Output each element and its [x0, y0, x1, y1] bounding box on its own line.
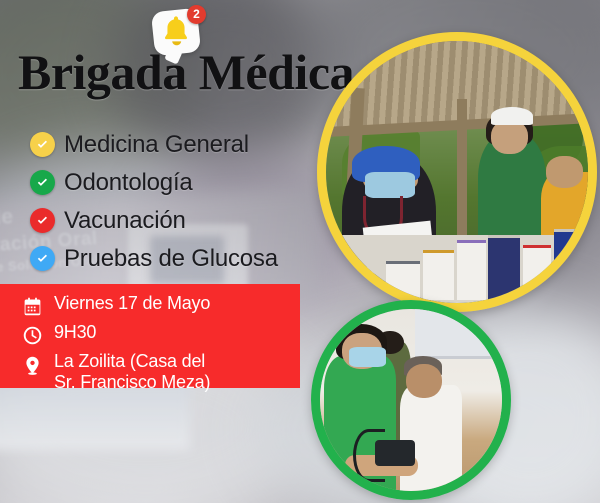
clock-icon [19, 322, 45, 348]
list-item: Odontología [30, 165, 278, 200]
event-info-panel: Viernes 17 de Mayo 9H30 La Zoilita (Casa… [0, 284, 300, 388]
list-item: Vacunación [30, 203, 278, 238]
event-location-text: La Zoilita (Casa del Sr. Francisco Meza) [54, 351, 210, 393]
medicine-box [488, 235, 519, 301]
clinic-shelf [415, 309, 502, 359]
medicine-box [386, 261, 420, 301]
event-date-row: Viernes 17 de Mayo [0, 293, 300, 319]
medicine-box [554, 229, 585, 300]
notification-badge: 2 [187, 5, 206, 24]
photo-content [326, 41, 588, 303]
event-location-line2: Sr. Francisco Meza) [54, 372, 210, 392]
event-date-text: Viernes 17 de Mayo [54, 293, 210, 314]
face-mask [349, 347, 385, 367]
event-location-line1: La Zoilita (Casa del [54, 351, 205, 371]
calendar-icon [19, 293, 45, 319]
list-item-label: Odontología [64, 169, 193, 197]
medical-brigade-photo [317, 32, 597, 312]
check-circle-icon [30, 132, 55, 157]
medicine-box [423, 250, 454, 300]
brigada-medica-poster: de atación Oral e Solución Oral 2 Brigad… [0, 0, 600, 503]
list-item: Pruebas de Glucosa [30, 241, 278, 276]
face-mask [365, 172, 415, 198]
medicine-box [523, 245, 552, 300]
event-time-text: 9H30 [54, 322, 96, 343]
list-item-label: Pruebas de Glucosa [64, 245, 278, 273]
services-list: Medicina General Odontología Vacunación … [30, 127, 278, 279]
staff-cap [491, 107, 533, 125]
patient-face [546, 156, 583, 187]
location-pin-icon [19, 352, 45, 378]
event-time-row: 9H30 [0, 322, 300, 348]
event-location-row: La Zoilita (Casa del Sr. Francisco Meza) [0, 351, 300, 393]
page-title: Brigada Médica [18, 47, 354, 97]
check-circle-icon [30, 208, 55, 233]
list-item-label: Vacunación [64, 207, 186, 235]
check-circle-icon [30, 170, 55, 195]
check-circle-icon [30, 246, 55, 271]
elderly-patient-face [406, 364, 442, 399]
list-item: Medicina General [30, 127, 278, 162]
footer-logos: EL NUEVO ECUADOR Ministerio de Salud Púb… [0, 423, 600, 503]
medicine-box [457, 240, 486, 301]
list-item-label: Medicina General [64, 131, 249, 159]
